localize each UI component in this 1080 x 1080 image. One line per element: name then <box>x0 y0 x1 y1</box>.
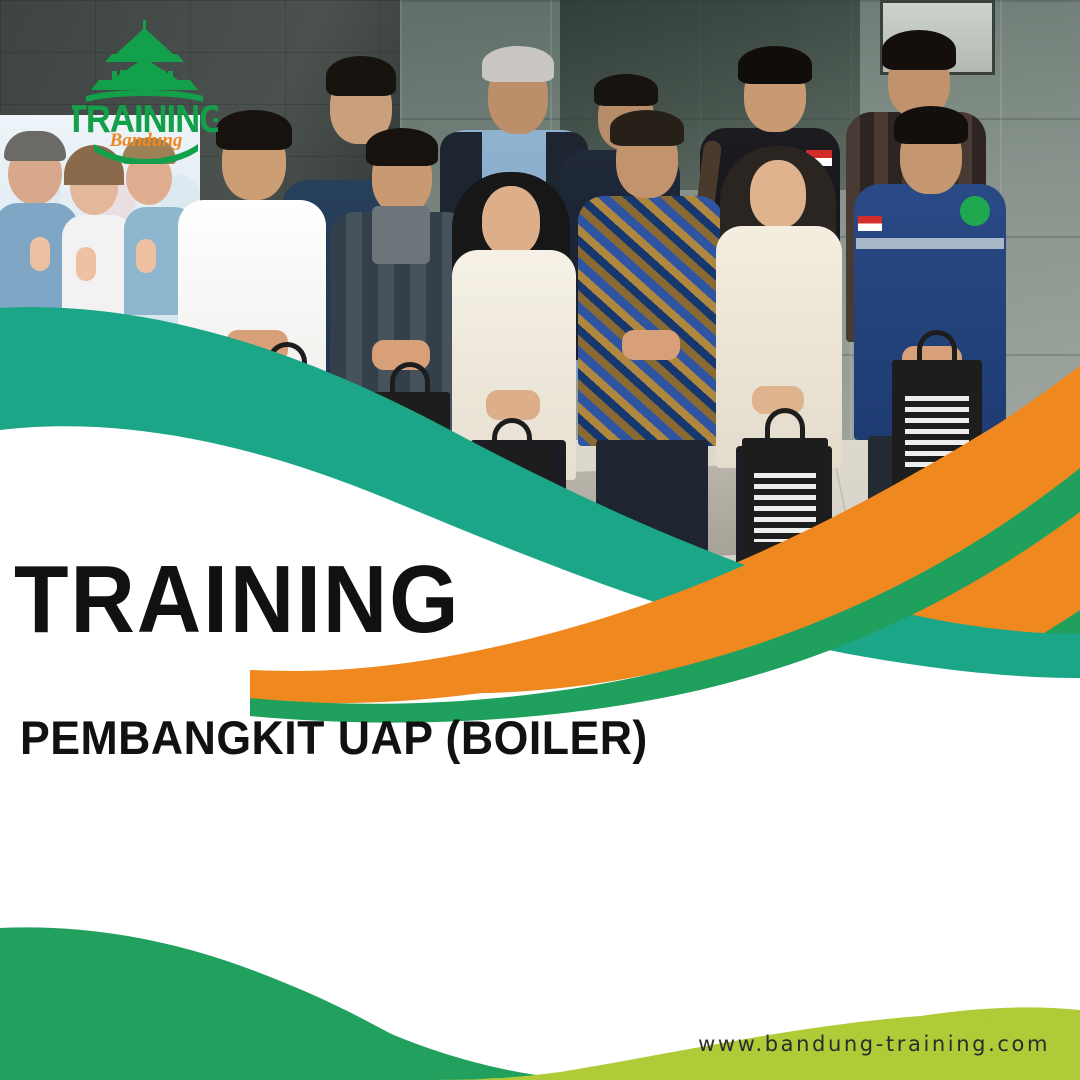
pagoda-roof-icon <box>86 20 203 102</box>
logo-script: Bandung <box>109 130 183 151</box>
page-title: TRAINING <box>14 552 460 648</box>
page-subtitle: PEMBANGKIT UAP (BOILER) <box>20 714 648 761</box>
poster-canvas: JA MEDIA T N G <box>0 0 1080 1080</box>
training-bandung-logo[interactable]: TRAINING Bandung <box>72 18 218 164</box>
website-url[interactable]: www.bandung-training.com <box>698 1032 1050 1056</box>
